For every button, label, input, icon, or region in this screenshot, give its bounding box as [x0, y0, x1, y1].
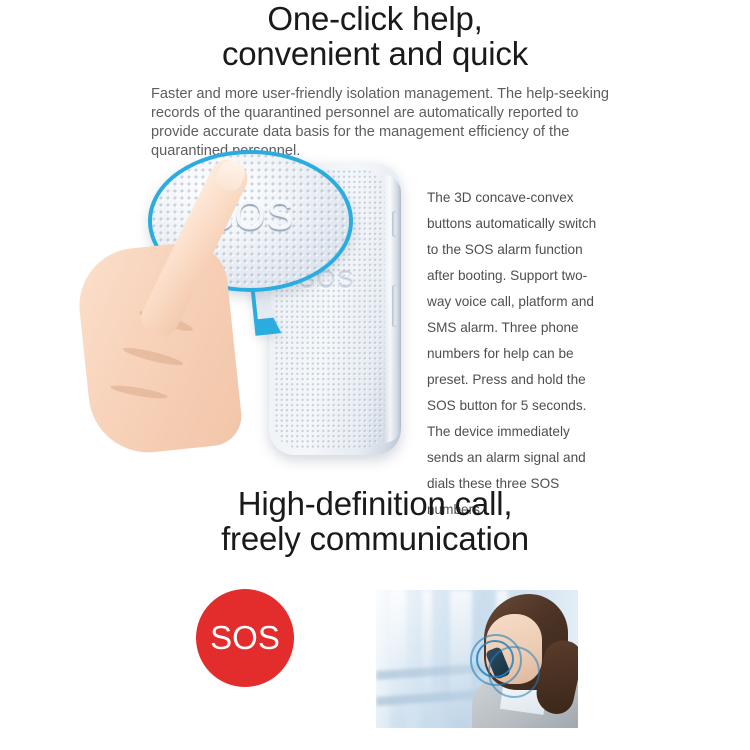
- photo-pillar-2: [422, 590, 432, 728]
- pointing-hand-icon: [118, 204, 278, 454]
- top-headline: One-click help, convenient and quick: [0, 2, 750, 72]
- bottom-headline: High-definition call, freely communicati…: [0, 487, 750, 557]
- feature-description-text: The 3D concave-convex buttons automatica…: [427, 185, 607, 523]
- signal-wave-icon-3: [488, 646, 540, 698]
- sos-badge: SOS: [196, 589, 294, 687]
- device-side-button-top: [392, 211, 397, 237]
- photo-pillar-3: [450, 590, 472, 728]
- product-illustration: SOS SOS: [118, 148, 418, 468]
- top-headline-line-1: One-click help,: [0, 2, 750, 37]
- photo-pillar-1: [390, 590, 406, 728]
- product-feature-page: One-click help, convenient and quick Fas…: [0, 0, 750, 750]
- device-side-button-bottom: [392, 285, 397, 327]
- bottom-headline-line-2: freely communication: [0, 522, 750, 557]
- hand-palm: [74, 239, 245, 459]
- sos-badge-label: SOS: [210, 621, 280, 654]
- top-headline-line-2: convenient and quick: [0, 37, 750, 72]
- call-photo: [376, 590, 578, 728]
- bottom-headline-line-1: High-definition call,: [0, 487, 750, 522]
